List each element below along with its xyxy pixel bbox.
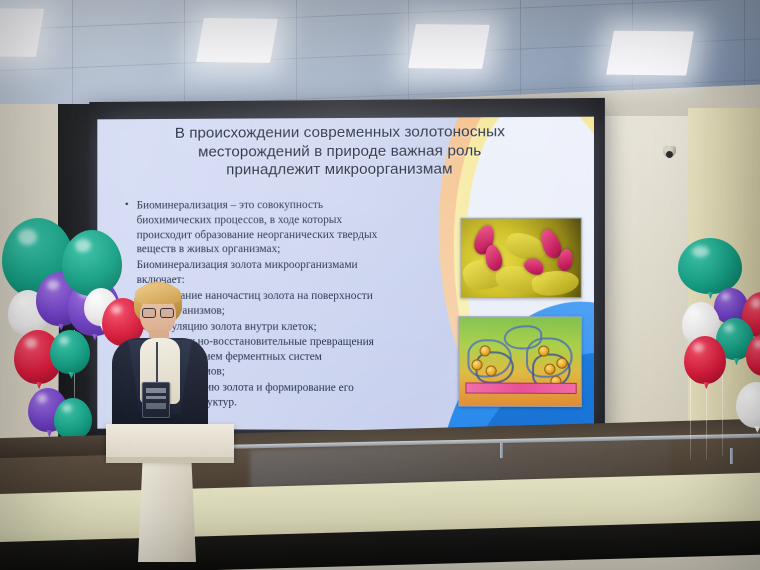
conference-badge: [142, 382, 170, 418]
badge-line-2: [146, 396, 166, 399]
balloon-right-red-2: [684, 336, 726, 384]
slide-image-electron-micrograph: [460, 218, 581, 299]
bullet-1-line-1: Биоминерализация – это совокупность: [137, 197, 543, 213]
lanyard-cord: [156, 342, 158, 386]
gold-nanoparticle-2: [471, 359, 482, 370]
balloon-right-teal-1: [678, 238, 742, 294]
railing-post-2: [730, 448, 733, 464]
presenter-hair-fringe: [135, 284, 181, 304]
balloon-left-teal-2: [50, 330, 90, 374]
slide-title-line-3: принадлежит микроорганизмам: [119, 160, 563, 180]
gold-nanoparticle-5: [544, 364, 555, 375]
sequence-bar: [465, 382, 576, 394]
ceiling-light-panel-3: [408, 24, 490, 69]
balloon-left-teal-4: [54, 398, 92, 440]
gold-nanoparticle-6: [556, 358, 567, 369]
glasses-icon: [142, 308, 174, 316]
ceiling-light-panel-2: [196, 18, 278, 63]
slide-title-line-2: месторождений в природе важная роль: [119, 142, 563, 162]
podium-top: [106, 424, 234, 458]
railing-post-1: [500, 442, 503, 458]
badge-line-1: [146, 388, 166, 393]
slide-image-protein-diagram: [458, 316, 581, 407]
ceiling-light-panel-4: [606, 31, 694, 76]
badge-line-3: [146, 403, 166, 409]
podium-column: [138, 458, 196, 562]
gold-nanoparticle-4: [538, 345, 549, 356]
gold-nanoparticle-1: [480, 345, 491, 356]
slide-title-line-1: В происхождении современных золотоносных: [119, 123, 563, 144]
presentation-photo-scene: В происхождении современных золотоносных…: [0, 0, 760, 570]
slide-title: В происхождении современных золотоносных…: [119, 123, 563, 181]
lecture-room: В происхождении современных золотоносных…: [0, 0, 760, 570]
gold-nanoparticle-3: [486, 365, 497, 376]
protein-linker: [504, 325, 542, 349]
security-camera-icon: [663, 146, 676, 157]
